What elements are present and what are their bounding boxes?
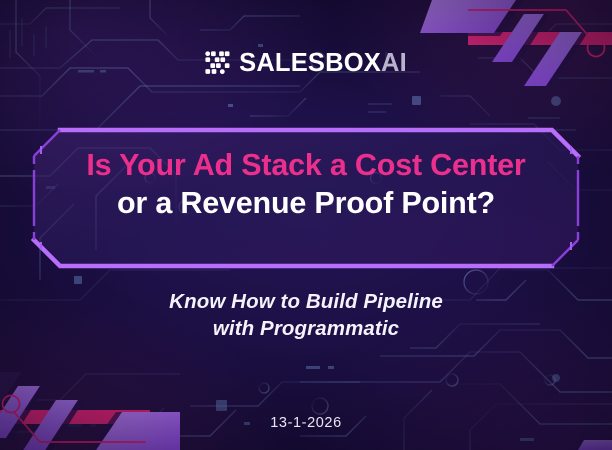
headline-line-2: or a Revenue Proof Point? [28, 184, 584, 222]
headline-frame: Is Your Ad Stack a Cost Center or a Reve… [28, 122, 584, 274]
headline-line-1: Is Your Ad Stack a Cost Center [28, 146, 584, 184]
subtitle-line-1: Know How to Build Pipeline [0, 288, 612, 315]
brand-name-main: SALESBOX [239, 49, 381, 77]
salesbox-dot-matrix-icon [205, 51, 230, 76]
brand-name-suffix: AI [381, 49, 407, 77]
event-date: 13-1-2026 [0, 415, 612, 431]
brand-logo: SALESBOXAI [0, 51, 612, 77]
brand-wordmark: SALESBOXAI [239, 51, 407, 77]
subtitle-line-2: with Programmatic [0, 315, 612, 342]
webinar-promo-banner: SALESBOXAI [0, 0, 612, 450]
headline-text: Is Your Ad Stack a Cost Center or a Reve… [28, 146, 584, 222]
subtitle-text: Know How to Build Pipeline with Programm… [0, 288, 612, 342]
